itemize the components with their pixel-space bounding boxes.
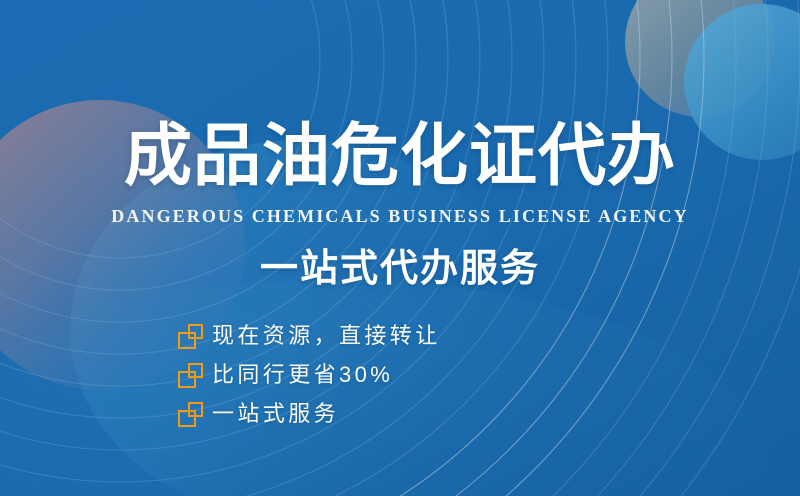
english-subtitle: DANGEROUS CHEMICALS BUSINESS LICENSE AGE… (0, 205, 800, 227)
feature-list: 现在资源，直接转让 比同行更省30% 一站式服务 (178, 317, 441, 434)
overlapping-squares-icon (178, 363, 203, 388)
list-item: 现在资源，直接转让 (178, 317, 441, 355)
list-item-label: 一站式服务 (212, 401, 339, 427)
promo-banner: 成品油危化证代办 DANGEROUS CHEMICALS BUSINESS LI… (0, 0, 800, 496)
banner-content: 成品油危化证代办 DANGEROUS CHEMICALS BUSINESS LI… (0, 0, 800, 496)
list-item: 比同行更省30% (178, 356, 441, 394)
overlapping-squares-icon (178, 324, 203, 349)
list-item: 一站式服务 (178, 395, 441, 433)
overlapping-squares-icon (178, 402, 203, 427)
page-title: 成品油危化证代办 (0, 117, 800, 195)
list-item-label: 现在资源，直接转让 (212, 323, 441, 349)
service-tagline: 一站式代办服务 (0, 245, 800, 293)
list-item-label: 比同行更省30% (212, 362, 393, 388)
